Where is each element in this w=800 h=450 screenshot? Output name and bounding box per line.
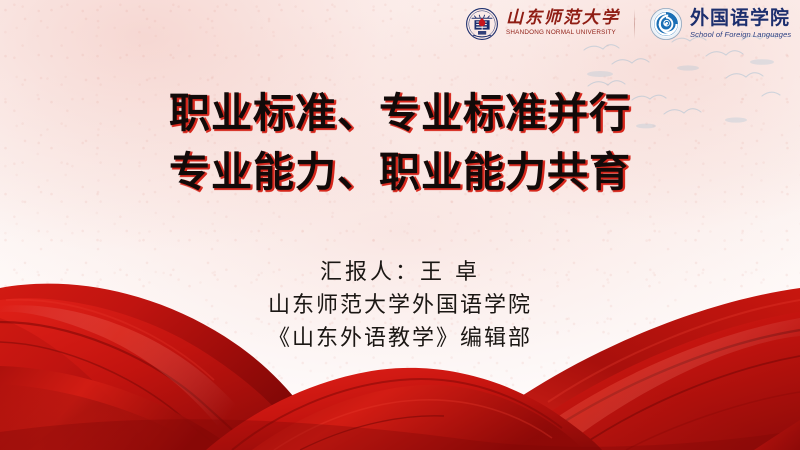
background-paper-grain <box>0 0 800 450</box>
presenter-name: 汇报人：王 卓 <box>0 256 800 289</box>
title-line-2: 专业能力、职业能力共育 <box>0 143 800 202</box>
school-logo[interactable]: 外国语学院 School of Foreign Languages <box>649 7 790 41</box>
presenter-info: 汇报人：王 卓 山东师范大学外国语学院 《山东外语教学》编辑部 <box>0 256 800 355</box>
university-name-cn: 山东师范大学 <box>506 10 620 27</box>
presenter-affiliation: 山东师范大学外国语学院 <box>0 289 800 322</box>
title-line-1: 职业标准、专业标准并行 <box>0 84 800 143</box>
logo-divider <box>634 9 635 39</box>
sdnu-emblem-icon <box>465 7 499 41</box>
sfl-spiral-emblem-icon <box>649 7 683 41</box>
school-name-en: School of Foreign Languages <box>690 31 792 38</box>
university-logo[interactable]: 山东师范大学 SHANDONG NORMAL UNIVERSITY <box>465 7 620 41</box>
university-name-en: SHANDONG NORMAL UNIVERSITY <box>506 30 622 36</box>
slide-title: 职业标准、专业标准并行 专业能力、职业能力共育 <box>0 84 800 202</box>
logo-band: 山东师范大学 SHANDONG NORMAL UNIVERSITY 外国语学院 … <box>465 0 800 47</box>
presenter-department: 《山东外语教学》编辑部 <box>0 322 800 355</box>
school-name-cn: 外国语学院 <box>690 9 790 28</box>
title-slide: 山东师范大学 SHANDONG NORMAL UNIVERSITY 外国语学院 … <box>0 0 800 450</box>
